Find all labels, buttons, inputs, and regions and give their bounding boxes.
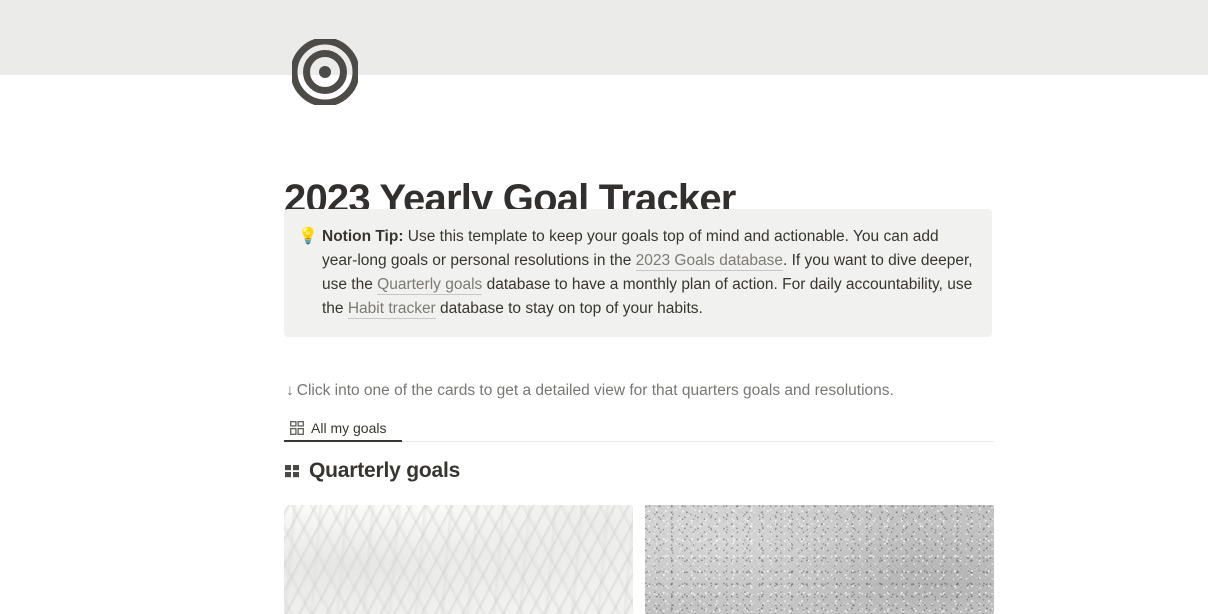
quarterly-goal-card-2[interactable]: [645, 505, 994, 614]
link-quarterly-goals[interactable]: Quarterly goals: [377, 276, 482, 295]
quarterly-goals-card-gallery: [284, 505, 994, 614]
link-2023-goals-database[interactable]: 2023 Goals database: [636, 252, 783, 271]
notion-tip-callout: 💡 Notion Tip: Use this template to keep …: [284, 209, 992, 337]
callout-text-part-4: database to stay on top of your habits.: [436, 300, 703, 317]
tab-active-underline: [284, 440, 402, 442]
white-plaster-texture-cover: [284, 505, 633, 614]
bullseye-target-icon[interactable]: [292, 39, 358, 105]
tab-all-my-goals[interactable]: All my goals: [284, 414, 393, 441]
quarterly-goal-card-1[interactable]: [284, 505, 633, 614]
gallery-view-icon: [290, 421, 304, 435]
callout-bold-label: Notion Tip:: [322, 228, 404, 245]
database-tabs-row: All my goals: [284, 414, 994, 442]
gray-granite-texture-cover: [645, 505, 994, 614]
helper-instruction-line: ↓Click into one of the cards to get a de…: [286, 379, 894, 403]
section-heading-quarterly-goals: Quarterly goals: [284, 458, 460, 484]
grid-squares-icon: [284, 463, 300, 479]
page-cover-band: [0, 0, 1208, 75]
tab-label-all-my-goals: All my goals: [311, 421, 386, 435]
light-bulb-emoji: 💡: [298, 225, 322, 249]
down-arrow-icon: ↓: [286, 382, 294, 399]
link-habit-tracker[interactable]: Habit tracker: [348, 300, 436, 319]
callout-text: Notion Tip: Use this template to keep yo…: [322, 225, 976, 321]
section-title: Quarterly goals: [309, 458, 460, 484]
helper-instruction-text: Click into one of the cards to get a det…: [297, 382, 894, 399]
